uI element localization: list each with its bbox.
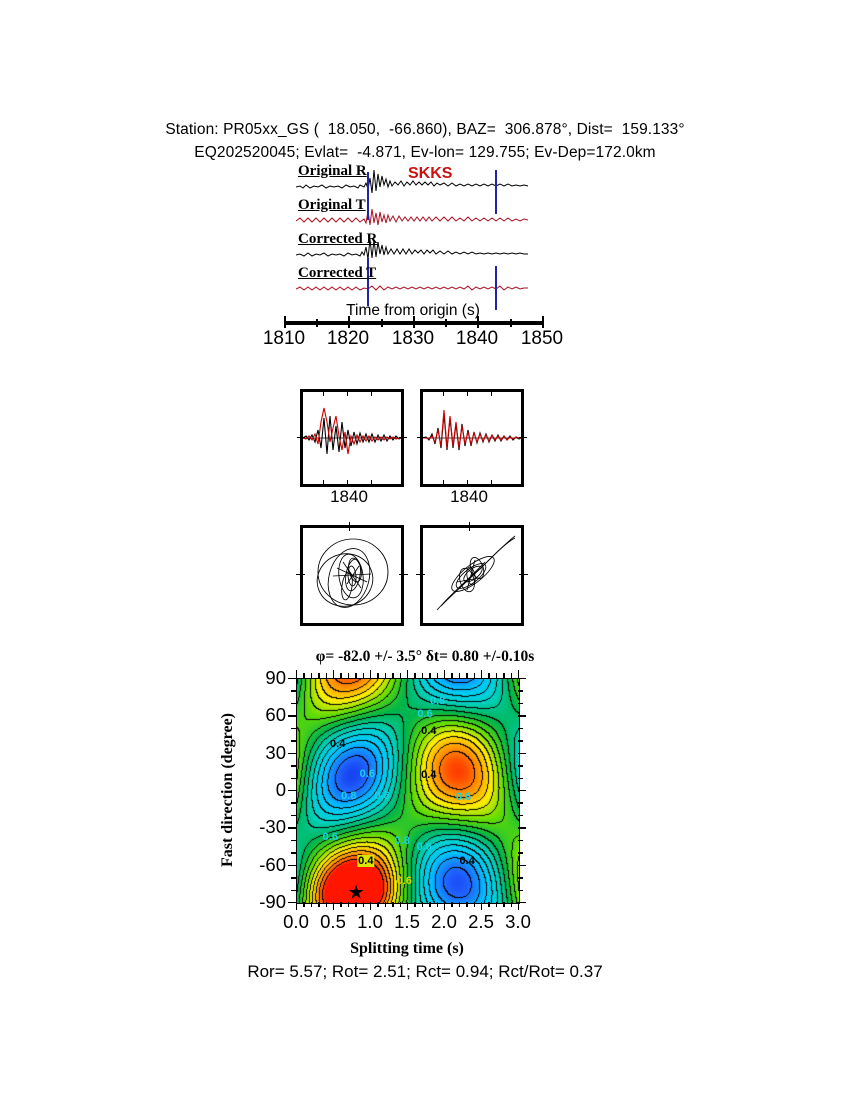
time-tick-label: 1820 (327, 328, 369, 350)
contour-x-tick (377, 902, 378, 907)
contour-x-tick-label: 0.0 (283, 911, 309, 933)
contour-level-label: 0.4 (329, 738, 346, 750)
time-tick-label: 1830 (392, 328, 434, 350)
quality-stats-line: Ror= 5.57; Rot= 2.51; Rct= 0.94; Rct/Rot… (0, 962, 850, 982)
time-axis-tick (381, 319, 383, 327)
contour-x-tick-label: 2.0 (431, 911, 457, 933)
best-solution-star-marker: ★ (348, 884, 365, 903)
contour-y-tick (518, 840, 523, 841)
contour-y-tick (518, 728, 523, 729)
contour-y-tick (288, 715, 296, 716)
contour-level-label: 0.4 (357, 855, 374, 867)
contour-y-tick-label: 60 (234, 704, 286, 726)
contour-level-label: 0.4 (459, 855, 476, 867)
contour-y-tick (291, 728, 296, 729)
contour-x-tick (459, 902, 460, 907)
splitting-result-title: φ= -82.0 +/- 3.5° δt= 0.80 +/-0.10s (0, 648, 850, 666)
contour-x-tick-label: 1.0 (357, 911, 383, 933)
contour-level-label: 0.6 (416, 841, 433, 853)
panel-tick (491, 389, 492, 396)
contour-x-tick-label: 2.5 (468, 911, 494, 933)
contour-level-label: 0.8 (340, 790, 357, 802)
waveform-label-original-t: Original T (298, 197, 366, 214)
contour-x-tick (422, 673, 423, 678)
time-axis-tick (477, 316, 479, 328)
contour-y-tick (291, 778, 296, 779)
panel-tick (443, 389, 444, 396)
contour-level-label: 0.4 (420, 725, 437, 737)
contour-y-tick (518, 765, 523, 766)
panel-tick (399, 437, 407, 438)
contour-x-tick (481, 670, 482, 678)
contour-y-tick (518, 678, 526, 679)
contour-x-tick (466, 902, 467, 907)
panel-tick (443, 480, 444, 487)
contour-y-tick (518, 753, 526, 754)
particle-motion-corrected (420, 525, 524, 626)
contour-x-tick (503, 673, 504, 678)
contour-x-tick (377, 673, 378, 678)
compare-waveforms-corrected (423, 392, 521, 484)
contour-x-tick (488, 673, 489, 678)
contour-x-tick (363, 902, 364, 907)
contour-level-label: 0.8 (429, 695, 446, 707)
contour-x-tick (311, 673, 312, 678)
contour-x-tick (444, 670, 445, 678)
contour-y-tick-label: -30 (234, 816, 286, 838)
contour-x-tick (511, 902, 512, 907)
compare-waveforms-uncorrected (303, 392, 401, 484)
panel-tick (347, 480, 348, 487)
panel-tick (467, 389, 468, 396)
contour-x-tick (363, 673, 364, 678)
contour-y-tick (518, 852, 523, 853)
contour-x-tick (407, 902, 408, 910)
contour-x-tick (400, 673, 401, 678)
header-event-line: EQ202520045; Evlat= -4.871, Ev-lon= 129.… (0, 141, 850, 164)
time-axis-tick (284, 316, 286, 328)
contour-y-tick (291, 802, 296, 803)
figure-header: Station: PR05xx_GS ( 18.050, -66.860), B… (0, 118, 850, 164)
panel-tick (467, 480, 468, 487)
panel-tick (417, 437, 425, 438)
contour-x-tick (348, 902, 349, 907)
contour-x-tick (474, 902, 475, 907)
contour-x-tick (503, 902, 504, 907)
contour-x-tick (481, 902, 482, 910)
panel-tick (323, 480, 324, 487)
contour-level-label: 0.6 (322, 831, 339, 843)
contour-x-tick (296, 902, 297, 910)
contour-level-label: 0.6 (455, 791, 472, 803)
contour-y-tick-label: -90 (234, 891, 286, 913)
contour-x-tick (296, 670, 297, 678)
contour-x-tick (370, 670, 371, 678)
contour-y-tick (518, 690, 523, 691)
panel-tick (491, 480, 492, 487)
waveform-label-corrected-t: Corrected T (298, 265, 376, 282)
contour-x-tick (459, 673, 460, 678)
header-station-line: Station: PR05xx_GS ( 18.050, -66.860), B… (0, 118, 850, 141)
contour-y-tick (291, 852, 296, 853)
contour-x-tick (437, 673, 438, 678)
waveform-row-original-r: Original R (296, 165, 528, 199)
contour-x-tick (400, 902, 401, 907)
panel-tick (371, 389, 372, 396)
contour-y-tick (291, 877, 296, 878)
contour-x-tick (429, 673, 430, 678)
contour-y-tick (518, 703, 523, 704)
contour-y-tick (518, 827, 526, 828)
contour-y-tick-label: 90 (234, 667, 286, 689)
contour-y-tick (291, 840, 296, 841)
contour-x-tick (333, 670, 334, 678)
contour-x-axis-title: Splitting time (s) (296, 940, 518, 958)
phase-marker-line-right-top (495, 170, 497, 214)
contour-x-tick (326, 673, 327, 678)
contour-y-tick-label: -60 (234, 854, 286, 876)
waveform-trace-stack: Original R Original T Corrected R Correc… (296, 165, 528, 315)
contour-x-tick (348, 673, 349, 678)
contour-x-tick (444, 902, 445, 910)
contour-x-tick (303, 902, 304, 907)
contour-x-tick (407, 670, 408, 678)
time-axis-tick (348, 316, 350, 328)
time-axis-labels: 1810 1820 1830 1840 1850 (268, 328, 558, 354)
contour-x-tick (429, 902, 430, 907)
time-tick-label: 1850 (521, 328, 563, 350)
panel-tick (371, 480, 372, 487)
contour-x-tick (451, 673, 452, 678)
panel-tick (519, 437, 527, 438)
contour-y-tick (518, 890, 523, 891)
contour-y-tick (291, 765, 296, 766)
contour-x-tick (355, 673, 356, 678)
contour-x-tick (414, 902, 415, 907)
waveform-label-original-r: Original R (298, 163, 367, 180)
time-axis-tick (316, 319, 318, 327)
time-axis-tick (413, 316, 415, 328)
time-tick-label: 1840 (456, 328, 498, 350)
waveform-label-corrected-r: Corrected R (298, 231, 377, 248)
contour-x-tick (318, 673, 319, 678)
contour-x-tick (414, 673, 415, 678)
contour-x-tick (333, 902, 334, 910)
time-tick-label: 1810 (263, 328, 305, 350)
panel-tick (296, 574, 305, 575)
contour-y-tick (288, 678, 296, 679)
particle-motion-path-corrected (423, 528, 521, 623)
contour-y-tick (518, 790, 526, 791)
panel-tick (297, 437, 305, 438)
contour-y-tick (518, 902, 526, 903)
panel-tick (416, 574, 425, 575)
contour-y-tick (288, 865, 296, 866)
contour-level-label: 0.4 (420, 769, 437, 781)
time-axis-tick (542, 316, 544, 328)
contour-y-tick (288, 753, 296, 754)
particle-motion-uncorrected (300, 525, 404, 626)
contour-x-tick (474, 673, 475, 678)
contour-y-tick (288, 902, 296, 903)
time-axis-tick (510, 319, 512, 327)
contour-y-tick (518, 802, 523, 803)
particle-motion-path-uncorrected (303, 528, 401, 623)
contour-x-tick (466, 673, 467, 678)
contour-x-tick (318, 902, 319, 907)
compare-panel-corrected-xlabel: 1840 (420, 487, 518, 507)
contour-x-tick (392, 902, 393, 907)
contour-x-tick (422, 902, 423, 907)
contour-level-label: 0.6 (359, 768, 376, 780)
contour-x-tick (303, 673, 304, 678)
panel-tick (469, 522, 470, 531)
waveform-row-original-t: Original T (296, 199, 528, 233)
contour-x-tick (385, 902, 386, 907)
contour-y-tick (291, 703, 296, 704)
panel-tick (519, 574, 528, 575)
contour-x-tick (326, 902, 327, 907)
contour-y-tick-label: 30 (234, 742, 286, 764)
contour-y-tick (518, 877, 523, 878)
contour-y-tick-label: 0 (234, 779, 286, 801)
contour-level-label: 0.6 (396, 875, 413, 887)
compare-panel-corrected (420, 389, 524, 487)
contour-x-tick (496, 673, 497, 678)
contour-x-tick (518, 670, 519, 678)
waveform-row-corrected-r: Corrected R (296, 233, 528, 267)
waveform-row-corrected-t: Corrected T (296, 267, 528, 301)
contour-x-tick (385, 673, 386, 678)
contour-x-tick-label: 1.5 (394, 911, 420, 933)
compare-panel-uncorrected-xlabel: 1840 (300, 487, 398, 507)
contour-x-tick-label: 0.5 (320, 911, 346, 933)
contour-x-tick (311, 902, 312, 907)
contour-level-label: 0.6 (416, 708, 433, 720)
contour-y-tick (518, 865, 526, 866)
time-axis-tick (445, 319, 447, 327)
time-axis: Time from origin (s) 1810 1820 1830 1840… (268, 300, 558, 354)
panel-tick (349, 522, 350, 531)
energy-contour-map[interactable]: 0.40.80.60.40.40.60.80.60.60.60.80.60.40… (296, 678, 520, 904)
contour-level-label: 0.8 (393, 835, 410, 847)
contour-x-tick (488, 902, 489, 907)
contour-y-tick (288, 790, 296, 791)
contour-x-tick (451, 902, 452, 907)
panel-tick (323, 389, 324, 396)
panel-tick (399, 574, 408, 575)
contour-y-tick (288, 827, 296, 828)
contour-y-tick (518, 778, 523, 779)
contour-x-tick (511, 673, 512, 678)
compare-panel-uncorrected (300, 389, 404, 487)
contour-x-tick (340, 673, 341, 678)
contour-x-tick (392, 673, 393, 678)
contour-level-label: 0.6 (373, 790, 390, 802)
contour-x-tick (437, 902, 438, 907)
panel-tick (347, 389, 348, 396)
contour-x-tick (370, 902, 371, 910)
contour-y-tick (291, 690, 296, 691)
contour-y-tick (518, 740, 523, 741)
time-axis-bar (268, 316, 558, 328)
contour-y-tick (518, 815, 523, 816)
contour-x-tick (496, 902, 497, 907)
contour-x-tick (340, 902, 341, 907)
contour-x-tick (355, 902, 356, 907)
phase-marker-line-left-top (367, 172, 369, 220)
contour-y-tick (291, 890, 296, 891)
contour-y-tick (291, 740, 296, 741)
contour-y-tick (291, 815, 296, 816)
contour-y-tick (518, 715, 526, 716)
contour-x-tick-label: 3.0 (505, 911, 531, 933)
contour-canvas (297, 679, 519, 903)
contour-y-axis-title: Fast direction (degree) (219, 713, 237, 867)
